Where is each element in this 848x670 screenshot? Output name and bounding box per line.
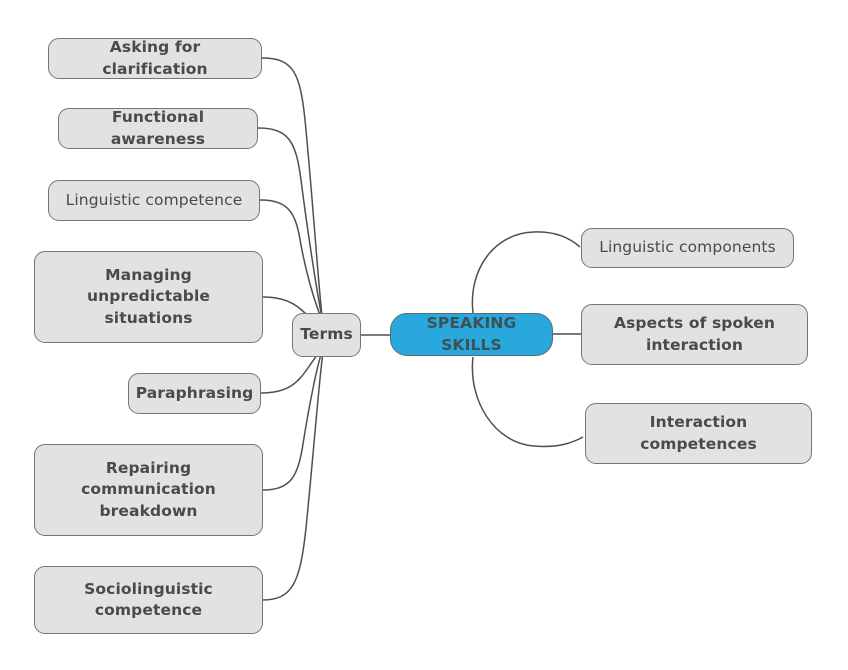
node-linguistic-competence[interactable]: Linguistic competence [48,180,260,221]
node-paraphrasing[interactable]: Paraphrasing [128,373,261,414]
node-interaction-competences[interactable]: Interaction competences [585,403,812,464]
node-repairing-communication-breakdown[interactable]: Repairing communication breakdown [34,444,263,536]
node-sociolinguistic-competence[interactable]: Sociolinguistic competence [34,566,263,634]
mindmap-canvas: Asking for clarification Functional awar… [0,0,848,670]
node-terms[interactable]: Terms [292,313,361,357]
node-asking-for-clarification[interactable]: Asking for clarification [48,38,262,79]
node-linguistic-components[interactable]: Linguistic components [581,228,794,268]
node-managing-unpredictable-situations[interactable]: Managing unpredictable situations [34,251,263,343]
node-functional-awareness[interactable]: Functional awareness [58,108,258,149]
node-aspects-of-spoken-interaction[interactable]: Aspects of spoken interaction [581,304,808,365]
node-speaking-skills[interactable]: SPEAKING SKILLS [390,313,553,356]
node-layer: Asking for clarification Functional awar… [0,0,848,670]
